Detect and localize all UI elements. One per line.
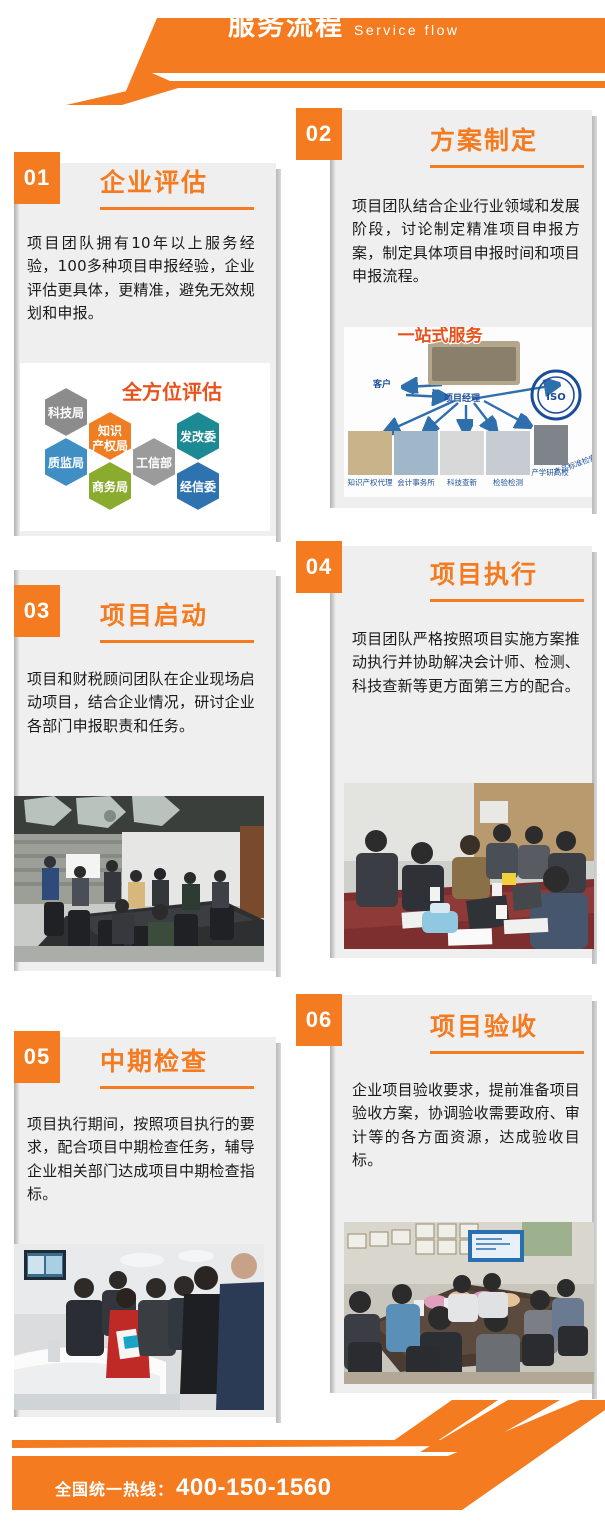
card-03-number-badge: 03 [14, 585, 60, 637]
svg-text:科技查新: 科技查新 [447, 477, 477, 487]
card-05-title: 中期检查 [100, 1049, 208, 1074]
card-02-left-edge [330, 110, 336, 508]
photo-site-visit-reception [14, 1244, 264, 1410]
svg-text:知识: 知识 [97, 423, 122, 438]
card-04-number-badge: 04 [296, 541, 342, 593]
card-01-body: 项目团队拥有10年以上服务经验，100多种项目申报经验，企业评估更具体，更精准，… [27, 232, 255, 325]
svg-text:会计事务所: 会计事务所 [397, 477, 435, 487]
card-03-title-rule [100, 640, 254, 643]
card-04-title: 项目执行 [430, 562, 538, 587]
svg-text:产权局: 产权局 [92, 438, 128, 453]
svg-text:商务局: 商务局 [92, 479, 128, 494]
card-06-number-badge: 06 [296, 994, 342, 1046]
card-06-title: 项目验收 [430, 1014, 538, 1039]
card-01-title: 企业评估 [100, 170, 208, 195]
header-title-group: 服务流程 Service flow [228, 13, 459, 40]
card-03-title: 项目启动 [100, 603, 208, 628]
card-02-body: 项目团队结合企业行业领域和发展阶段，讨论制定精准项目申报方案，制定具体项目申报时… [352, 195, 580, 288]
card-06-title-rule [430, 1051, 584, 1054]
svg-text:工信部: 工信部 [136, 455, 172, 470]
hexagon-assessment-diagram: 科技局 质监局 知识 产权局 商务局 工信部 发改委 经信委 全方位评估 [20, 363, 270, 531]
svg-text:客户: 客户 [372, 378, 391, 390]
svg-text:一站式服务: 一站式服务 [398, 327, 484, 346]
header-title-en: Service flow [354, 23, 459, 37]
svg-text:经信委: 经信委 [180, 479, 217, 494]
card-06-left-edge [330, 995, 336, 1393]
photo-team-working-session [344, 783, 594, 949]
one-stop-service-flow-diagram: ISO 客户 项目经理 知识产权代理 会计事务所 科技查新 检验检测 产学研高校… [344, 327, 592, 497]
card-04-body: 项目团队严格按照项目实施方案推动执行并协助解决会计师、检测、科技查新等更方面第三… [352, 628, 580, 698]
card-02-number-badge: 02 [296, 108, 342, 160]
footer-banner-shape [0, 1400, 605, 1538]
card-04-left-edge [330, 546, 336, 958]
footer-hotline-banner: 全国统一热线： 400-150-1560 [0, 1400, 605, 1538]
card-01-number-badge: 01 [14, 152, 60, 204]
svg-text:ISO: ISO [546, 392, 565, 403]
card-04-title-rule [430, 599, 584, 602]
svg-text:检验检测: 检验检测 [493, 477, 523, 487]
card-01-title-rule [100, 207, 254, 210]
header-title-cn: 服务流程 [228, 13, 344, 40]
card-05-body: 项目执行期间，按照项目执行的要求，配合项目中期检查任务，辅导企业相关部门达成项目… [27, 1113, 255, 1206]
svg-text:质监局: 质监局 [48, 455, 84, 470]
svg-text:项目经理: 项目经理 [444, 392, 480, 404]
svg-text:全方位评估: 全方位评估 [121, 380, 222, 404]
card-02-title: 方案制定 [430, 128, 538, 153]
footer-text-group: 全国统一热线： 400-150-1560 [55, 1474, 331, 1502]
svg-text:知识产权代理: 知识产权代理 [348, 477, 393, 487]
footer-hotline-label: 全国统一热线： [55, 1476, 174, 1500]
card-06-body: 企业项目验收要求，提前准备项目验收方案，协调验收需要政府、审计等的各方面资源，达… [352, 1079, 580, 1172]
card-05-title-rule [100, 1086, 254, 1089]
card-03-body: 项目和财税顾问团队在企业现场启动项目，结合企业情况，研讨企业各部门申报职责和任务… [27, 668, 255, 738]
photo-large-conference-acceptance [344, 1222, 594, 1384]
svg-text:科技局: 科技局 [48, 405, 84, 420]
card-02-title-rule [430, 165, 584, 168]
header-banner: 服务流程 Service flow [0, 0, 605, 105]
svg-text:发改委: 发改委 [179, 429, 217, 444]
photo-conference-room-meeting [14, 796, 264, 962]
service-flow-infographic: 服务流程 Service flow 01 企业评估 项目团队拥有10年以上服务经… [0, 0, 605, 1538]
card-05-number-badge: 05 [14, 1031, 60, 1083]
footer-hotline-number: 400-150-1560 [176, 1474, 331, 1502]
